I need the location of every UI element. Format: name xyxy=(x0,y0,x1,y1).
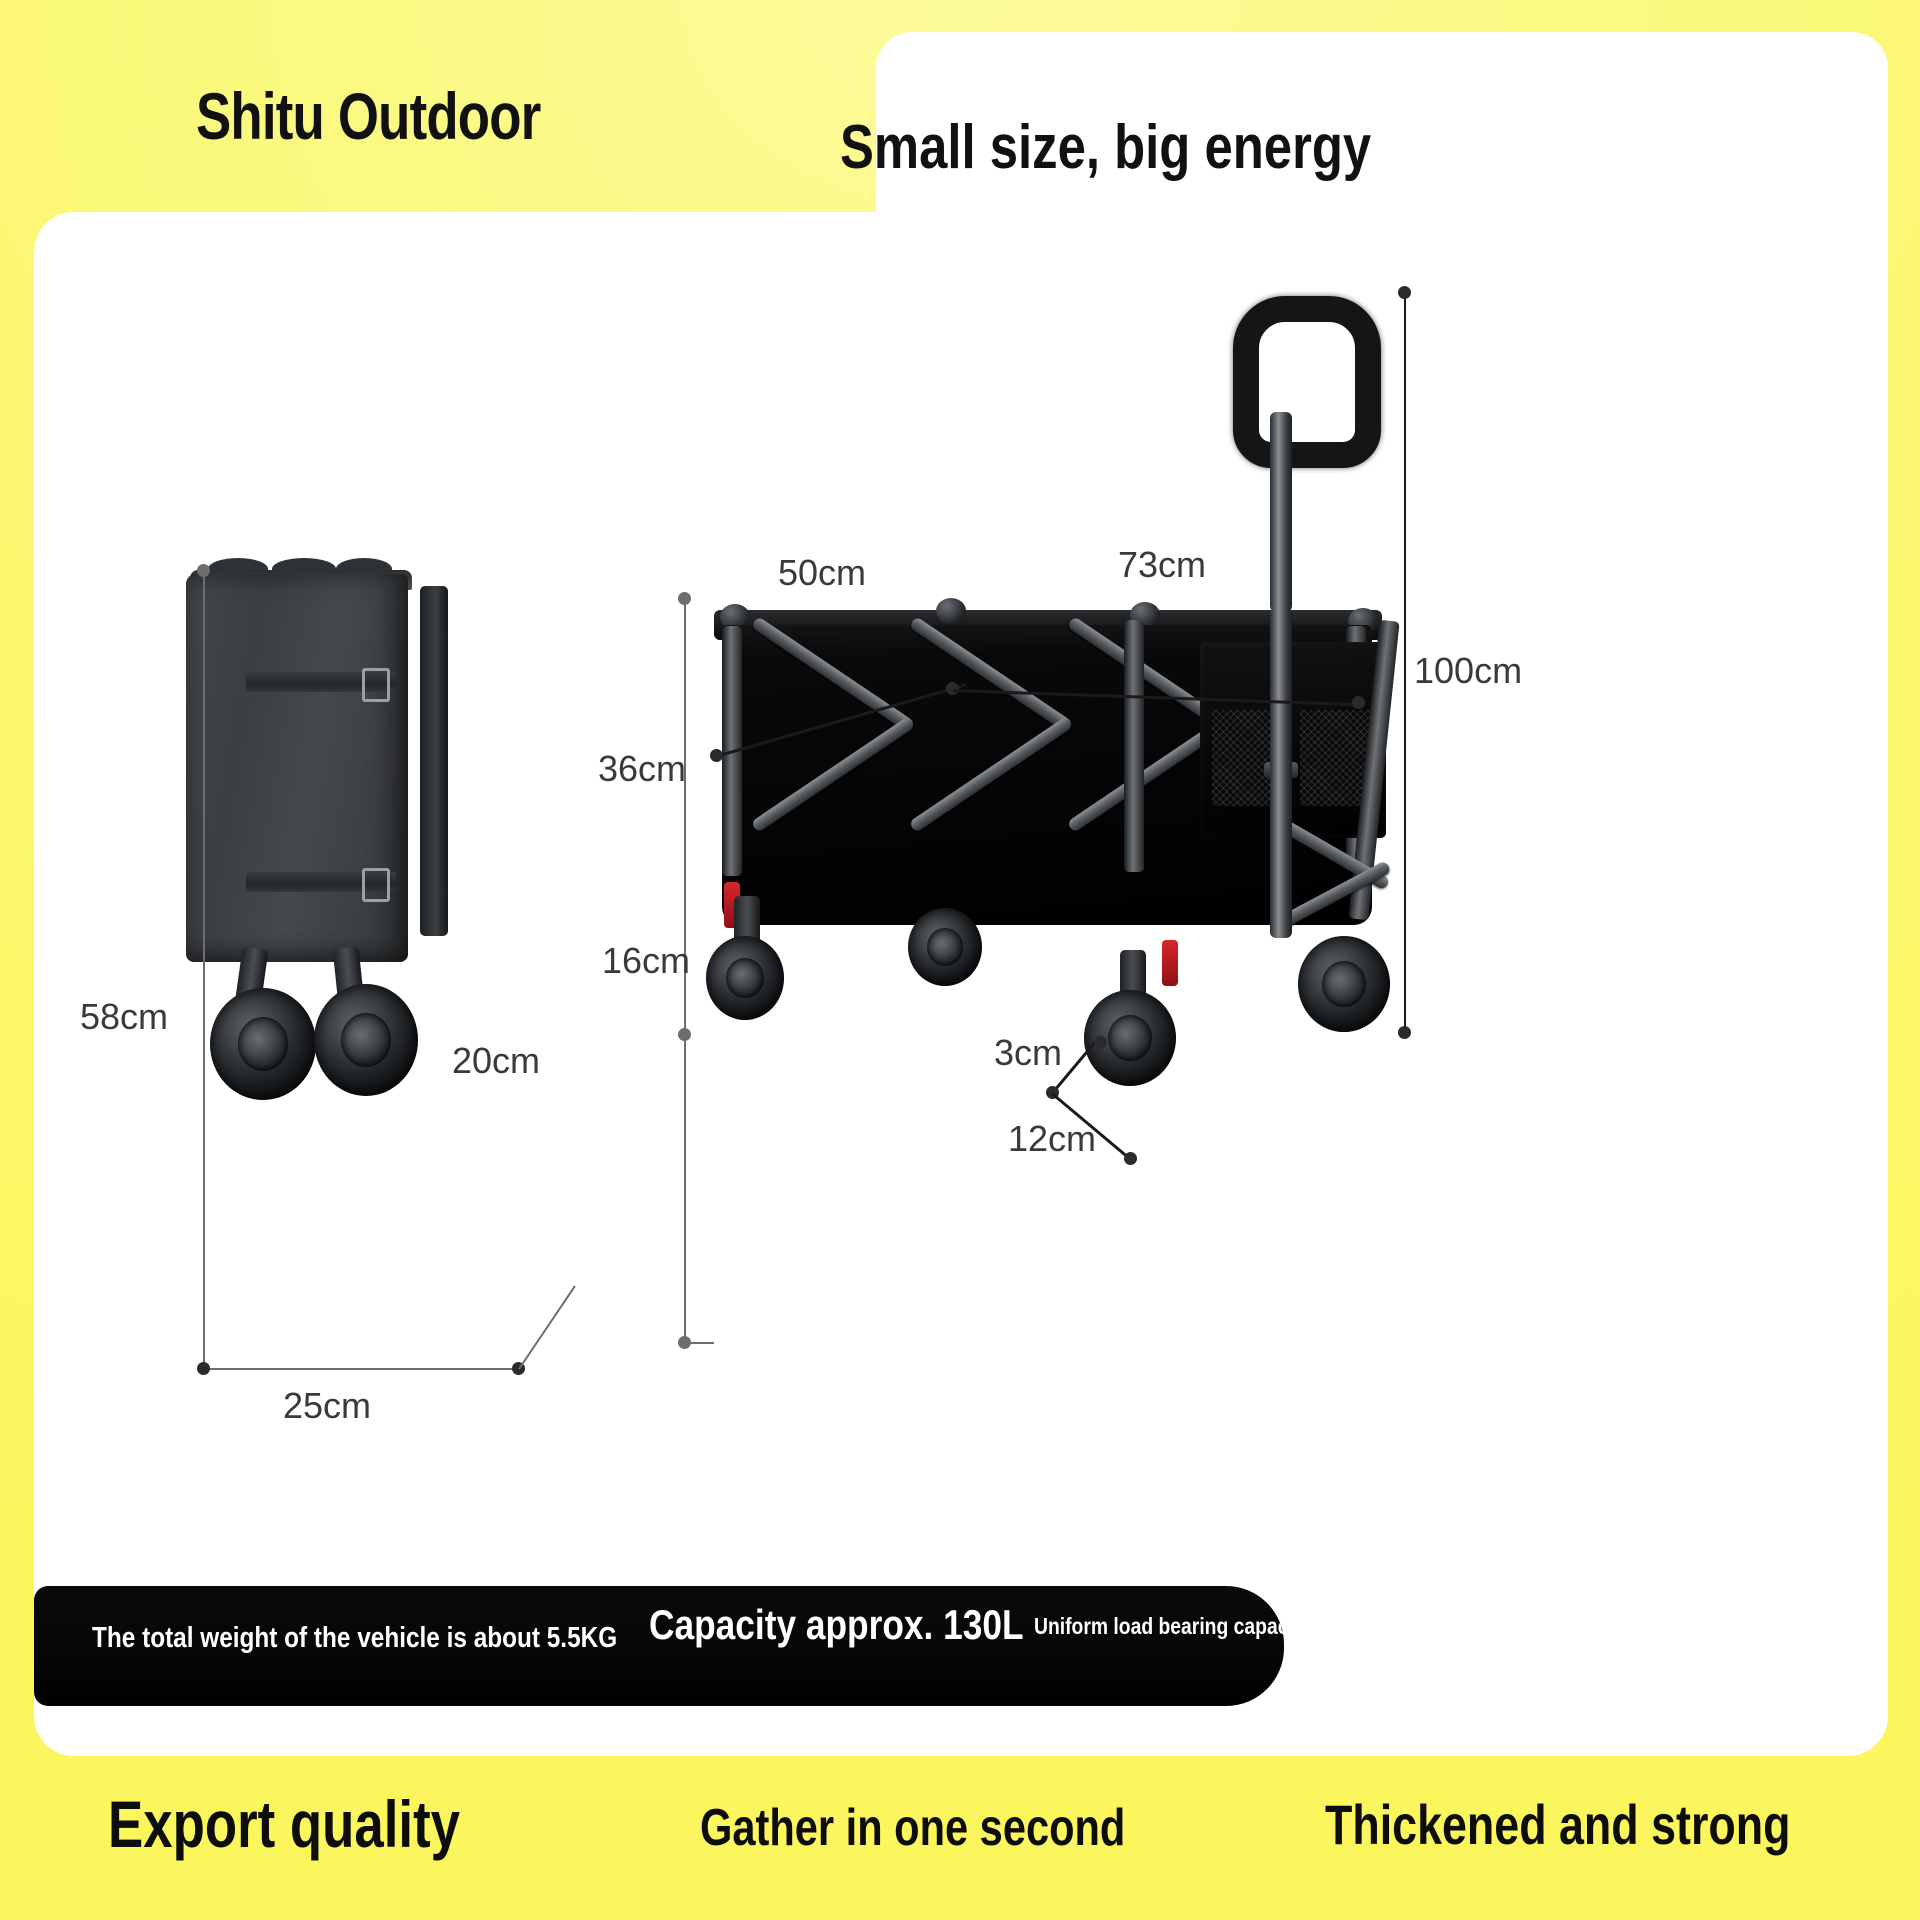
buckle-icon xyxy=(362,668,390,702)
infographic-canvas: Shitu Outdoor Small size, big energy 58c… xyxy=(0,0,1920,1920)
buckle-icon xyxy=(362,868,390,902)
dimension-label-36cm: 36cm xyxy=(598,748,686,790)
spec-total-weight: The total weight of the vehicle is about… xyxy=(92,1622,617,1655)
dimline-baseline xyxy=(684,1342,714,1344)
handle-grip xyxy=(1233,296,1381,468)
dimline-dot xyxy=(1094,1036,1107,1049)
wheel xyxy=(210,988,316,1100)
dimline-36cm xyxy=(684,598,686,998)
dimline-25cm xyxy=(203,1368,519,1370)
rim-knob xyxy=(936,598,966,624)
dimension-label-73cm: 73cm xyxy=(1118,544,1206,586)
dimline-16cm xyxy=(684,998,686,1342)
release-lock xyxy=(1162,940,1178,986)
folded-wagon-image xyxy=(186,556,436,976)
dimension-label-20cm: 20cm xyxy=(452,1040,540,1082)
strap-upper xyxy=(246,672,396,692)
tagline-heading: Small size, big energy xyxy=(840,112,1371,183)
folded-frame-spine xyxy=(420,586,448,936)
footer-item-gather-one-second: Gather in one second xyxy=(700,1798,1125,1858)
dimension-label-25cm: 25cm xyxy=(283,1385,371,1427)
wheel xyxy=(908,908,982,986)
folded-fabric-body xyxy=(186,574,408,962)
dimline-dot xyxy=(1398,1026,1411,1039)
dimline-dot xyxy=(1352,696,1365,709)
wheel xyxy=(314,984,418,1096)
spec-capacity: Capacity approx. 130L xyxy=(649,1601,1024,1649)
dimline-dot xyxy=(678,592,691,605)
dimension-label-100cm: 100cm xyxy=(1414,650,1522,692)
wheel xyxy=(1298,936,1390,1032)
dimension-label-58cm: 58cm xyxy=(80,996,168,1038)
handle-pole-lower xyxy=(1270,608,1292,938)
dimension-label-12cm: 12cm xyxy=(1008,1118,1096,1160)
dimension-label-3cm: 3cm xyxy=(994,1032,1062,1074)
brand-title: Shitu Outdoor xyxy=(196,78,540,154)
dimline-58cm xyxy=(203,570,205,1370)
handle-pole-upper xyxy=(1270,412,1292,612)
wheel xyxy=(706,936,784,1020)
spec-banner: The total weight of the vehicle is about… xyxy=(34,1586,1284,1706)
footer-features: Export quality Gather in one second Thic… xyxy=(0,1770,1920,1920)
dimension-label-50cm: 50cm xyxy=(778,552,866,594)
open-wagon-image xyxy=(700,290,1700,1170)
dimension-label-16cm: 16cm xyxy=(602,940,690,982)
dimline-dot xyxy=(1124,1152,1137,1165)
dimline-dot xyxy=(197,564,210,577)
strap-lower xyxy=(246,872,396,892)
dimline-dot xyxy=(678,1028,691,1041)
corner-post xyxy=(1124,620,1144,872)
dimline-dot xyxy=(197,1362,210,1375)
spec-load-bearing: Uniform load bearing capacity is approxi… xyxy=(1034,1613,1284,1640)
dimline-dot xyxy=(1398,286,1411,299)
dimline-100cm xyxy=(1404,292,1406,1032)
spec-list: The total weight of the vehicle is about… xyxy=(34,1608,1284,1668)
footer-item-thickened-strong: Thickened and strong xyxy=(1325,1792,1790,1857)
dimline-dot xyxy=(710,749,723,762)
footer-item-export-quality: Export quality xyxy=(108,1786,460,1862)
